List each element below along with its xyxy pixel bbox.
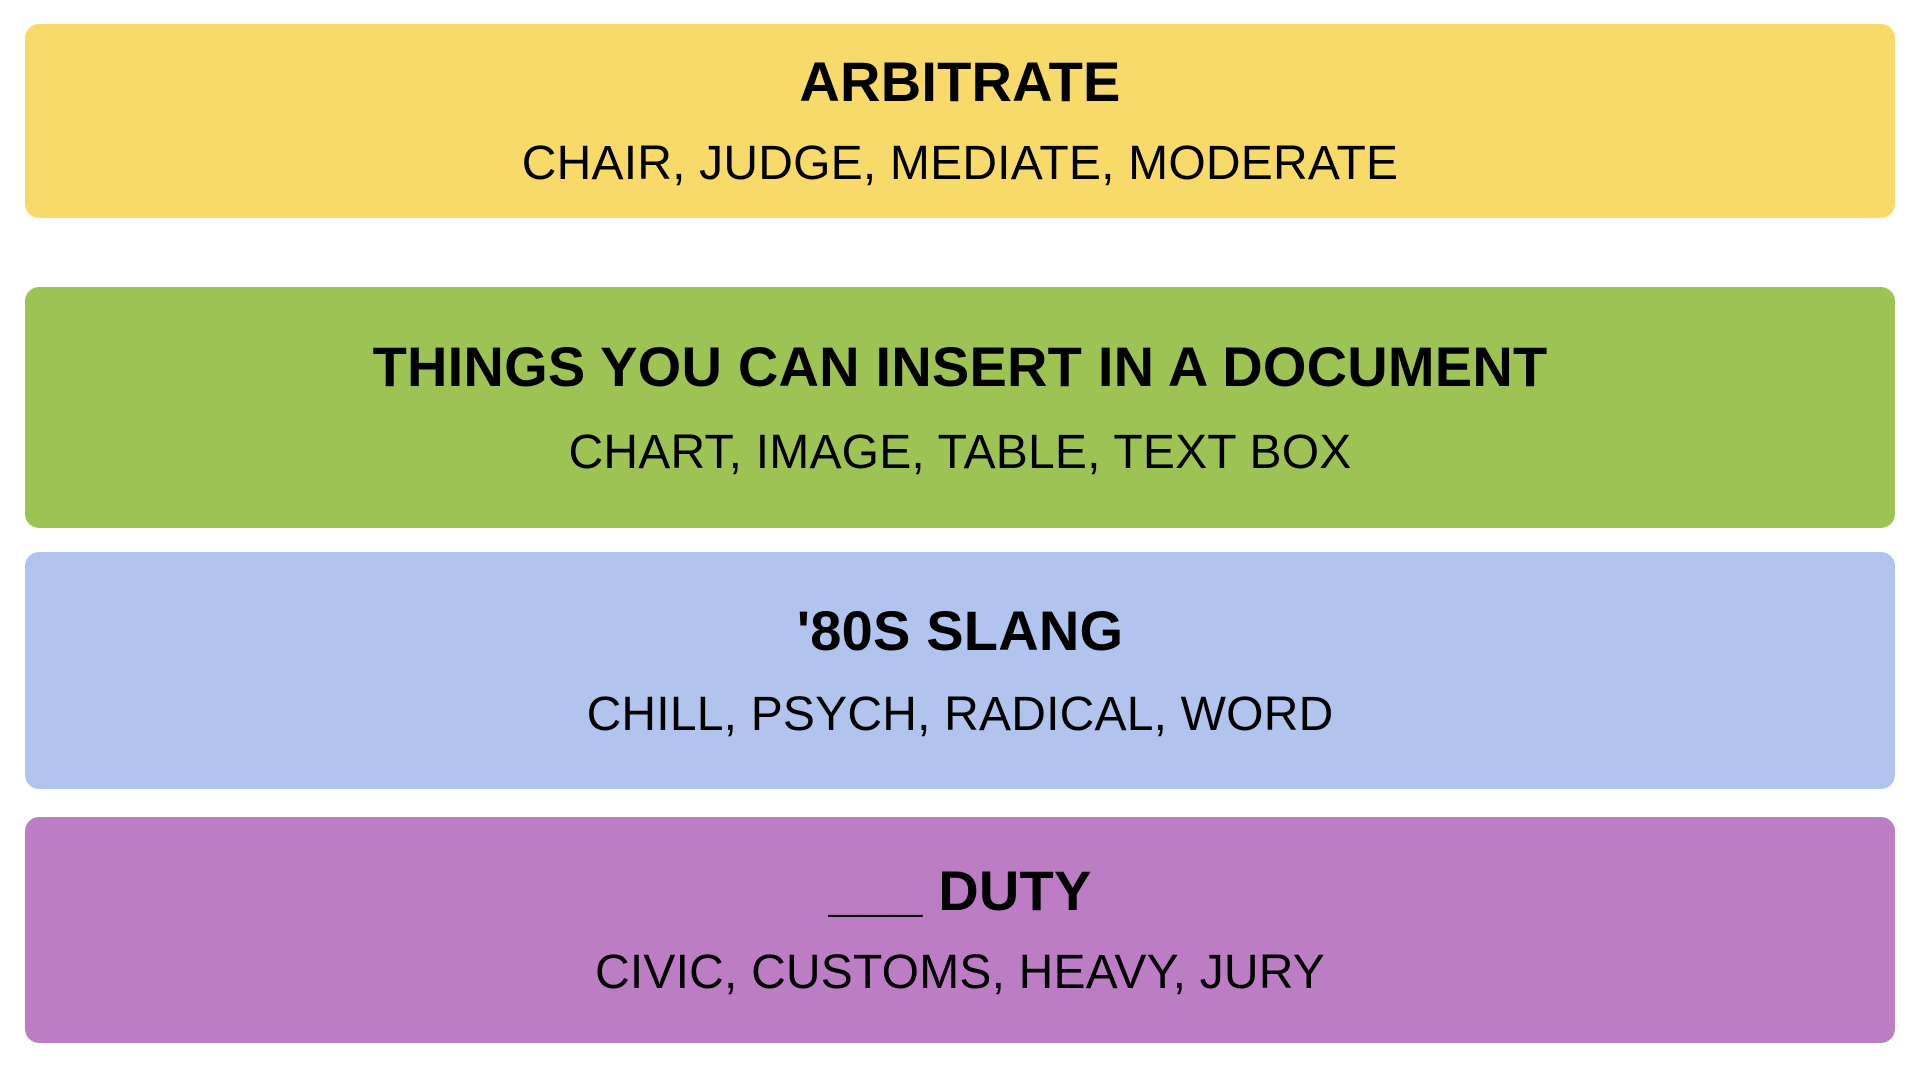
category-members-blue: CHILL, PSYCH, RADICAL, WORD xyxy=(587,691,1334,739)
category-band-blue: '80S SLANG CHILL, PSYCH, RADICAL, WORD xyxy=(25,552,1895,789)
category-title-purple: ___ DUTY xyxy=(828,863,1091,919)
category-band-purple: ___ DUTY CIVIC, CUSTOMS, HEAVY, JURY xyxy=(25,817,1895,1043)
connections-solution-board: ARBITRATE CHAIR, JUDGE, MEDIATE, MODERAT… xyxy=(0,0,1920,1080)
category-members-purple: CIVIC, CUSTOMS, HEAVY, JURY xyxy=(595,949,1325,997)
category-title-green: THINGS YOU CAN INSERT IN A DOCUMENT xyxy=(373,339,1548,395)
category-title-blue: '80S SLANG xyxy=(797,603,1124,659)
category-title-yellow: ARBITRATE xyxy=(799,54,1120,110)
category-members-green: CHART, IMAGE, TABLE, TEXT BOX xyxy=(569,429,1352,477)
category-band-yellow: ARBITRATE CHAIR, JUDGE, MEDIATE, MODERAT… xyxy=(25,24,1895,218)
category-members-yellow: CHAIR, JUDGE, MEDIATE, MODERATE xyxy=(522,140,1398,188)
category-band-green: THINGS YOU CAN INSERT IN A DOCUMENT CHAR… xyxy=(25,287,1895,528)
